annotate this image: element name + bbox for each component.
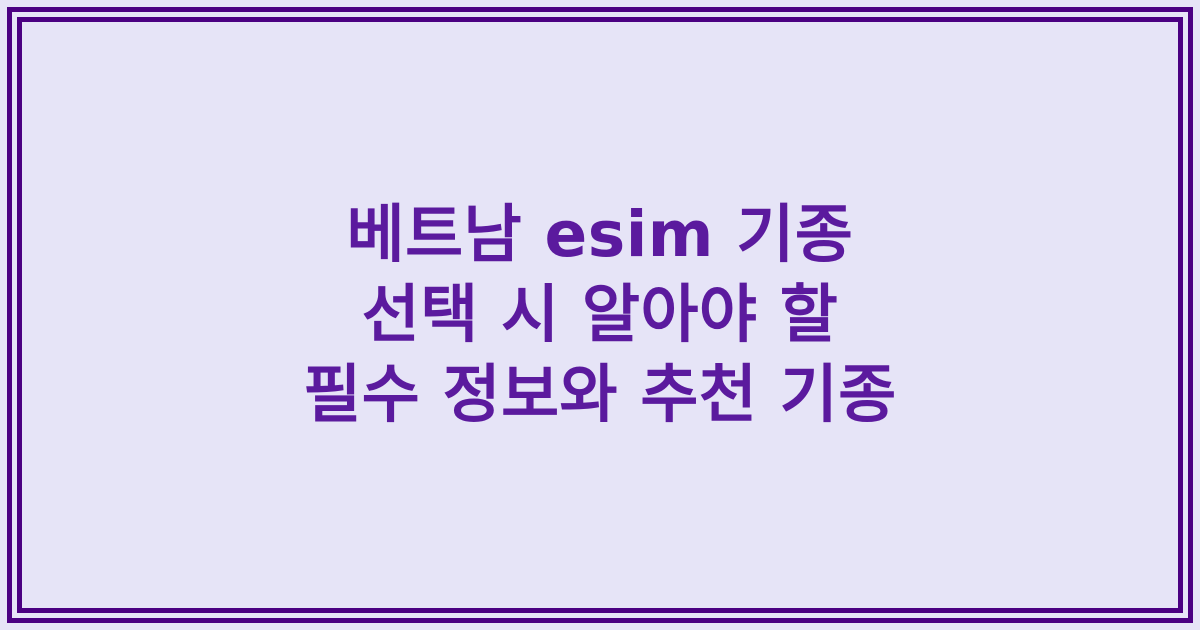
title-line-1: 베트남 esim 기종 [50,195,1150,275]
thumbnail-card: 베트남 esim 기종 선택 시 알아야 할 필수 정보와 추천 기종 [0,0,1200,630]
title-line-3: 필수 정보와 추천 기종 [50,355,1150,435]
outer-border-frame: 베트남 esim 기종 선택 시 알아야 할 필수 정보와 추천 기종 [7,7,1193,623]
inner-border-frame: 베트남 esim 기종 선택 시 알아야 할 필수 정보와 추천 기종 [17,17,1183,613]
page-title: 베트남 esim 기종 선택 시 알아야 할 필수 정보와 추천 기종 [22,195,1178,435]
title-line-2: 선택 시 알아야 할 [50,275,1150,355]
